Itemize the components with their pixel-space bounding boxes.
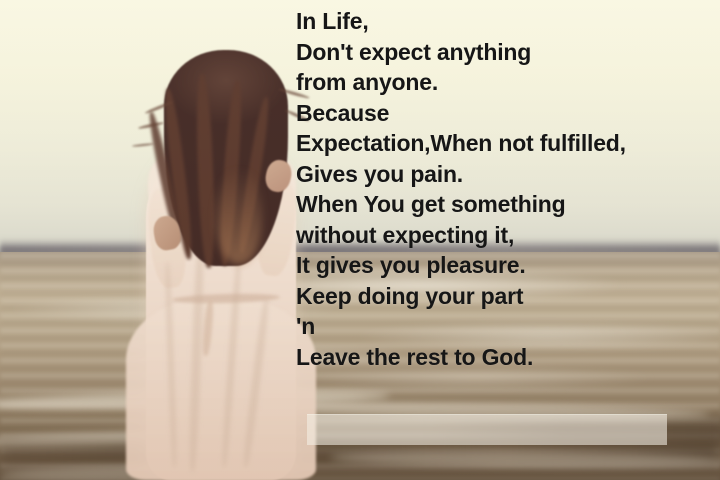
- quote-line: It gives you pleasure.: [296, 250, 720, 281]
- quote-line: When You get something: [296, 189, 720, 220]
- hair-highlight: [216, 168, 262, 264]
- quote-text-block: In Life, Don't expect anything from anyo…: [296, 6, 720, 372]
- hair-wisp: [132, 143, 154, 147]
- blank-overlay-bar: [307, 414, 667, 445]
- quote-line: Because: [296, 98, 720, 129]
- quote-line: without expecting it,: [296, 220, 720, 251]
- dress-skirt: [126, 298, 316, 480]
- quote-line: Leave the rest to God.: [296, 342, 720, 373]
- quote-line: Expectation,When not fulfilled,: [296, 128, 720, 159]
- quote-line: from anyone.: [296, 67, 720, 98]
- quote-image-canvas: In Life, Don't expect anything from anyo…: [0, 0, 720, 480]
- quote-line: Keep doing your part: [296, 281, 720, 312]
- quote-line: In Life,: [296, 6, 720, 37]
- quote-line: 'n: [296, 311, 720, 342]
- quote-line: Gives you pain.: [296, 159, 720, 190]
- quote-line: Don't expect anything: [296, 37, 720, 68]
